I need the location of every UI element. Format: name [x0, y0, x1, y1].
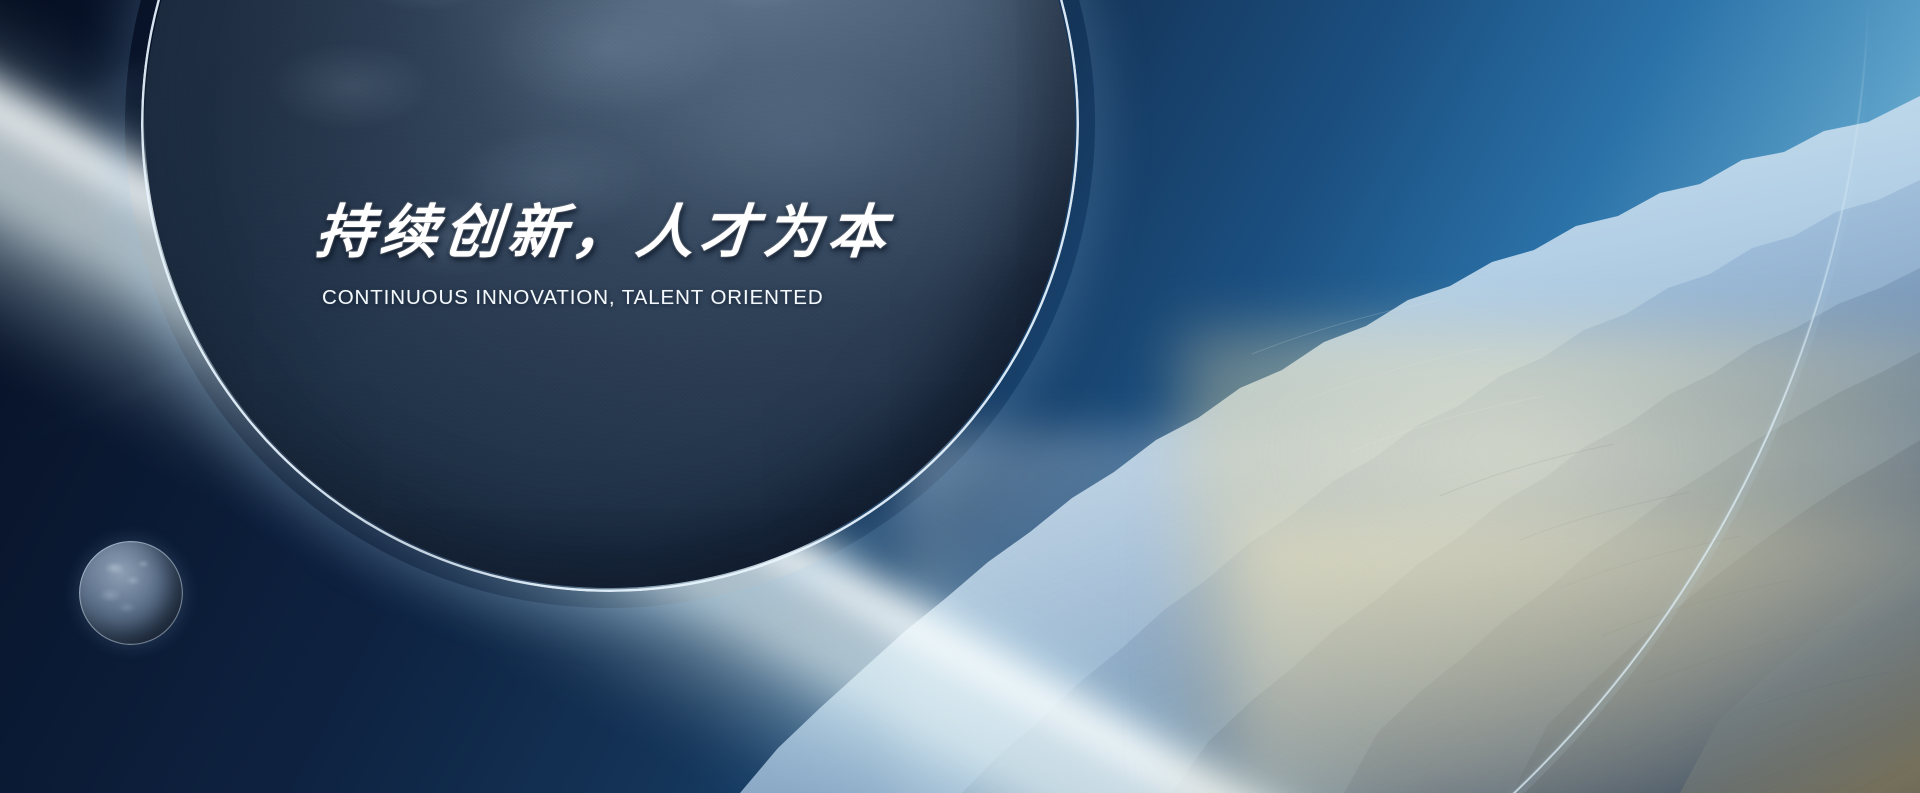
hero-banner: 持续创新，人才为本 CONTINUOUS INNOVATION, TALENT … — [0, 0, 1920, 793]
moon-rim-light — [79, 541, 183, 645]
banner-headline: 持续创新，人才为本 — [313, 198, 1199, 266]
small-moon — [79, 541, 183, 645]
banner-subheadline: CONTINUOUS INNOVATION, TALENT ORIENTED — [322, 286, 1196, 310]
banner-text-block: 持续创新，人才为本 CONTINUOUS INNOVATION, TALENT … — [316, 198, 1196, 310]
